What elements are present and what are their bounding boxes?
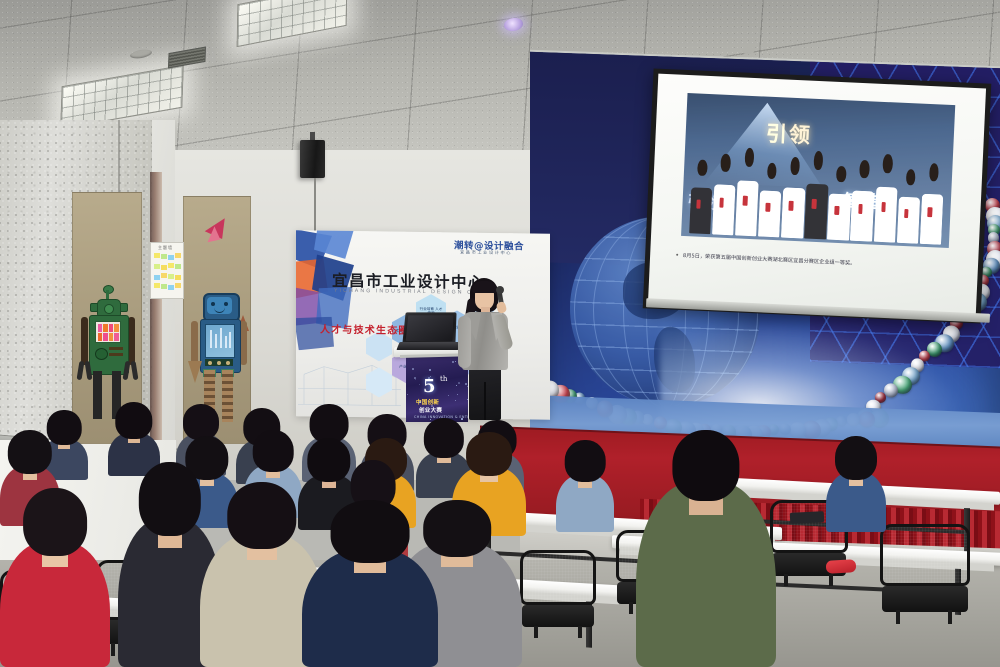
chair-seat	[882, 586, 968, 612]
sticky-note	[154, 264, 160, 269]
slide-person	[689, 159, 714, 234]
audience-head	[23, 488, 87, 556]
slide-person	[712, 153, 737, 235]
presenter	[456, 278, 516, 420]
sticky-note	[161, 284, 167, 289]
audience-head	[672, 430, 739, 501]
projection-screen-surface: 引领 引领 智造 8月5日，荣获第五届中国创新创业大赛湖北赛区宜昌分赛区企业组一…	[648, 74, 986, 319]
sticky-note	[175, 264, 181, 269]
chair-leg	[829, 574, 833, 586]
laptop-keyboard	[396, 342, 461, 350]
slide-person	[897, 169, 922, 244]
sticky-note	[175, 253, 181, 258]
chair-leg	[111, 643, 115, 656]
tablet-on-desk	[790, 511, 825, 524]
attendee-navy-stripe	[302, 500, 438, 667]
podium-line-2: 创业大赛	[419, 406, 442, 414]
audience-head	[183, 404, 219, 440]
sticky-note	[168, 263, 174, 268]
slide-person	[850, 160, 875, 242]
slide-person	[804, 150, 830, 239]
attendee-stripe-tee	[556, 440, 614, 532]
attendee-olive-shirt	[636, 430, 776, 667]
audience-head	[331, 500, 410, 563]
chair-mid	[520, 550, 596, 638]
chair-backrest	[520, 550, 596, 605]
slide-person	[735, 147, 761, 236]
chair-right-empty	[880, 524, 970, 624]
notes-board-title: 主题墙	[158, 245, 173, 251]
attendee-blue-shirt	[826, 436, 886, 532]
audience-head	[466, 432, 512, 476]
attendee-red-scarf	[0, 488, 110, 667]
chair-leg	[534, 626, 538, 638]
sticky-note	[161, 265, 167, 270]
sticky-note	[175, 275, 181, 280]
projection-screen: 引领 引领 智造 8月5日，荣获第五届中国创新创业大赛湖北赛区宜昌分赛区企业组一…	[643, 68, 992, 323]
slide-person	[781, 156, 806, 238]
audience-head	[115, 402, 152, 439]
sticky-notes-board: 主题墙	[150, 242, 184, 299]
pencil-case	[826, 559, 857, 574]
chair-seat	[522, 605, 595, 628]
sticky-note	[168, 255, 174, 260]
podium-number-superscript: th	[440, 375, 447, 383]
slide-person	[874, 153, 900, 242]
podium-number: 5	[423, 376, 436, 397]
chair-leg	[629, 602, 633, 614]
presenter-hand	[496, 301, 507, 314]
audience-head	[8, 430, 52, 474]
sticky-note	[161, 254, 167, 259]
wall-speaker-icon	[300, 140, 325, 178]
sticky-note	[161, 273, 167, 278]
sticky-note	[154, 253, 160, 258]
audience-head	[565, 440, 606, 482]
slide-person	[920, 163, 945, 245]
audience-head	[227, 482, 296, 549]
sticky-note	[168, 274, 174, 279]
slide-photo-headline: 引领	[765, 114, 933, 159]
sticky-note	[154, 283, 160, 288]
audience-head	[139, 462, 201, 536]
chair-leg	[784, 574, 788, 586]
banner-tagline: 人才与技术生态圈	[320, 321, 410, 337]
laptop-screen	[406, 315, 454, 341]
speaker-cable	[314, 178, 316, 238]
chair-leg	[578, 626, 582, 638]
conference-room-photo: 主题墙 引领 引领 智造	[0, 0, 1000, 667]
banner-logo: 潮转@设计融合 宜昌市工业设计中心	[454, 237, 534, 260]
chair-backrest	[880, 524, 970, 586]
sticky-note	[168, 285, 174, 290]
sticky-note	[175, 283, 181, 288]
slide-person	[758, 162, 783, 237]
slide-person	[827, 166, 852, 241]
paper-plane-wing-icon	[205, 226, 221, 242]
slide-photo: 引领 引领 智造	[681, 93, 956, 248]
chair-leg	[948, 610, 952, 624]
laptop	[398, 312, 460, 352]
audience-head	[835, 436, 877, 480]
chair-leg	[896, 610, 900, 624]
slide-caption: 8月5日，荣获第五届中国创新创业大赛湖北赛区宜昌分赛区企业组一等奖。	[683, 252, 959, 273]
banner-logo-subtext: 宜昌市工业设计中心	[460, 250, 512, 257]
sticky-note	[154, 275, 160, 280]
molecule-sphere	[884, 383, 898, 397]
audience-head	[253, 430, 294, 472]
